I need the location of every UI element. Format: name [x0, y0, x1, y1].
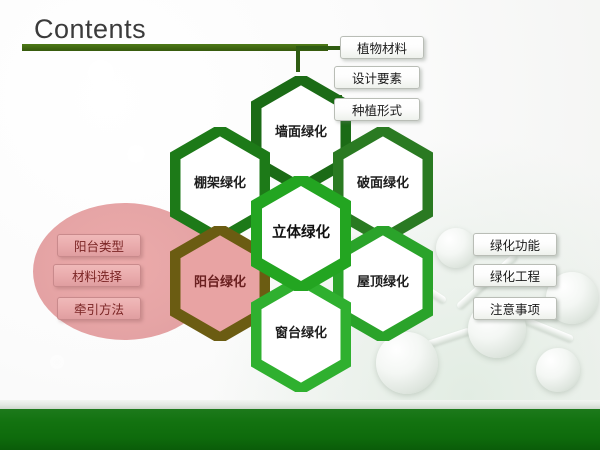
callout-material-choice-text: 材料选择: [72, 266, 122, 285]
center-hexagon[interactable]: 立体绿化: [251, 176, 351, 291]
callout-traction-method-text: 牵引方法: [74, 299, 124, 318]
callout-design-elements-text: 设计要素: [352, 68, 402, 87]
callout-greening-function-text: 绿化功能: [490, 235, 540, 254]
callout-greening-engineering[interactable]: 绿化工程: [473, 264, 557, 287]
callout-plant-material-text: 植物材料: [357, 38, 407, 57]
callout-planting-form[interactable]: 种植形式: [334, 98, 420, 121]
bottom-sheen: [0, 400, 600, 409]
honeycomb-diagram: 墙面绿化 棚架绿化 破面绿化 阳台绿化: [0, 0, 600, 450]
callout-plant-material[interactable]: 植物材料: [340, 36, 424, 59]
callout-greening-function[interactable]: 绿化功能: [473, 233, 557, 256]
slide-canvas: Contents 墙面绿化 棚架绿化 破面绿化: [0, 0, 600, 450]
callout-notes[interactable]: 注意事项: [473, 297, 557, 320]
hexagon-sill-label: 窗台绿化: [251, 277, 351, 392]
callout-material-choice[interactable]: 材料选择: [53, 264, 141, 287]
callout-balcony-type[interactable]: 阳台类型: [57, 234, 141, 257]
hexagon-sill[interactable]: 窗台绿化: [251, 277, 351, 392]
callout-balcony-type-text: 阳台类型: [74, 236, 124, 255]
callout-greening-engineering-text: 绿化工程: [490, 266, 540, 285]
center-hexagon-label: 立体绿化: [251, 176, 351, 291]
bottom-green-band: [0, 409, 600, 450]
callout-traction-method[interactable]: 牵引方法: [57, 297, 141, 320]
callout-notes-text: 注意事项: [490, 299, 540, 318]
callout-planting-form-text: 种植形式: [352, 100, 402, 119]
callout-design-elements[interactable]: 设计要素: [334, 66, 420, 89]
